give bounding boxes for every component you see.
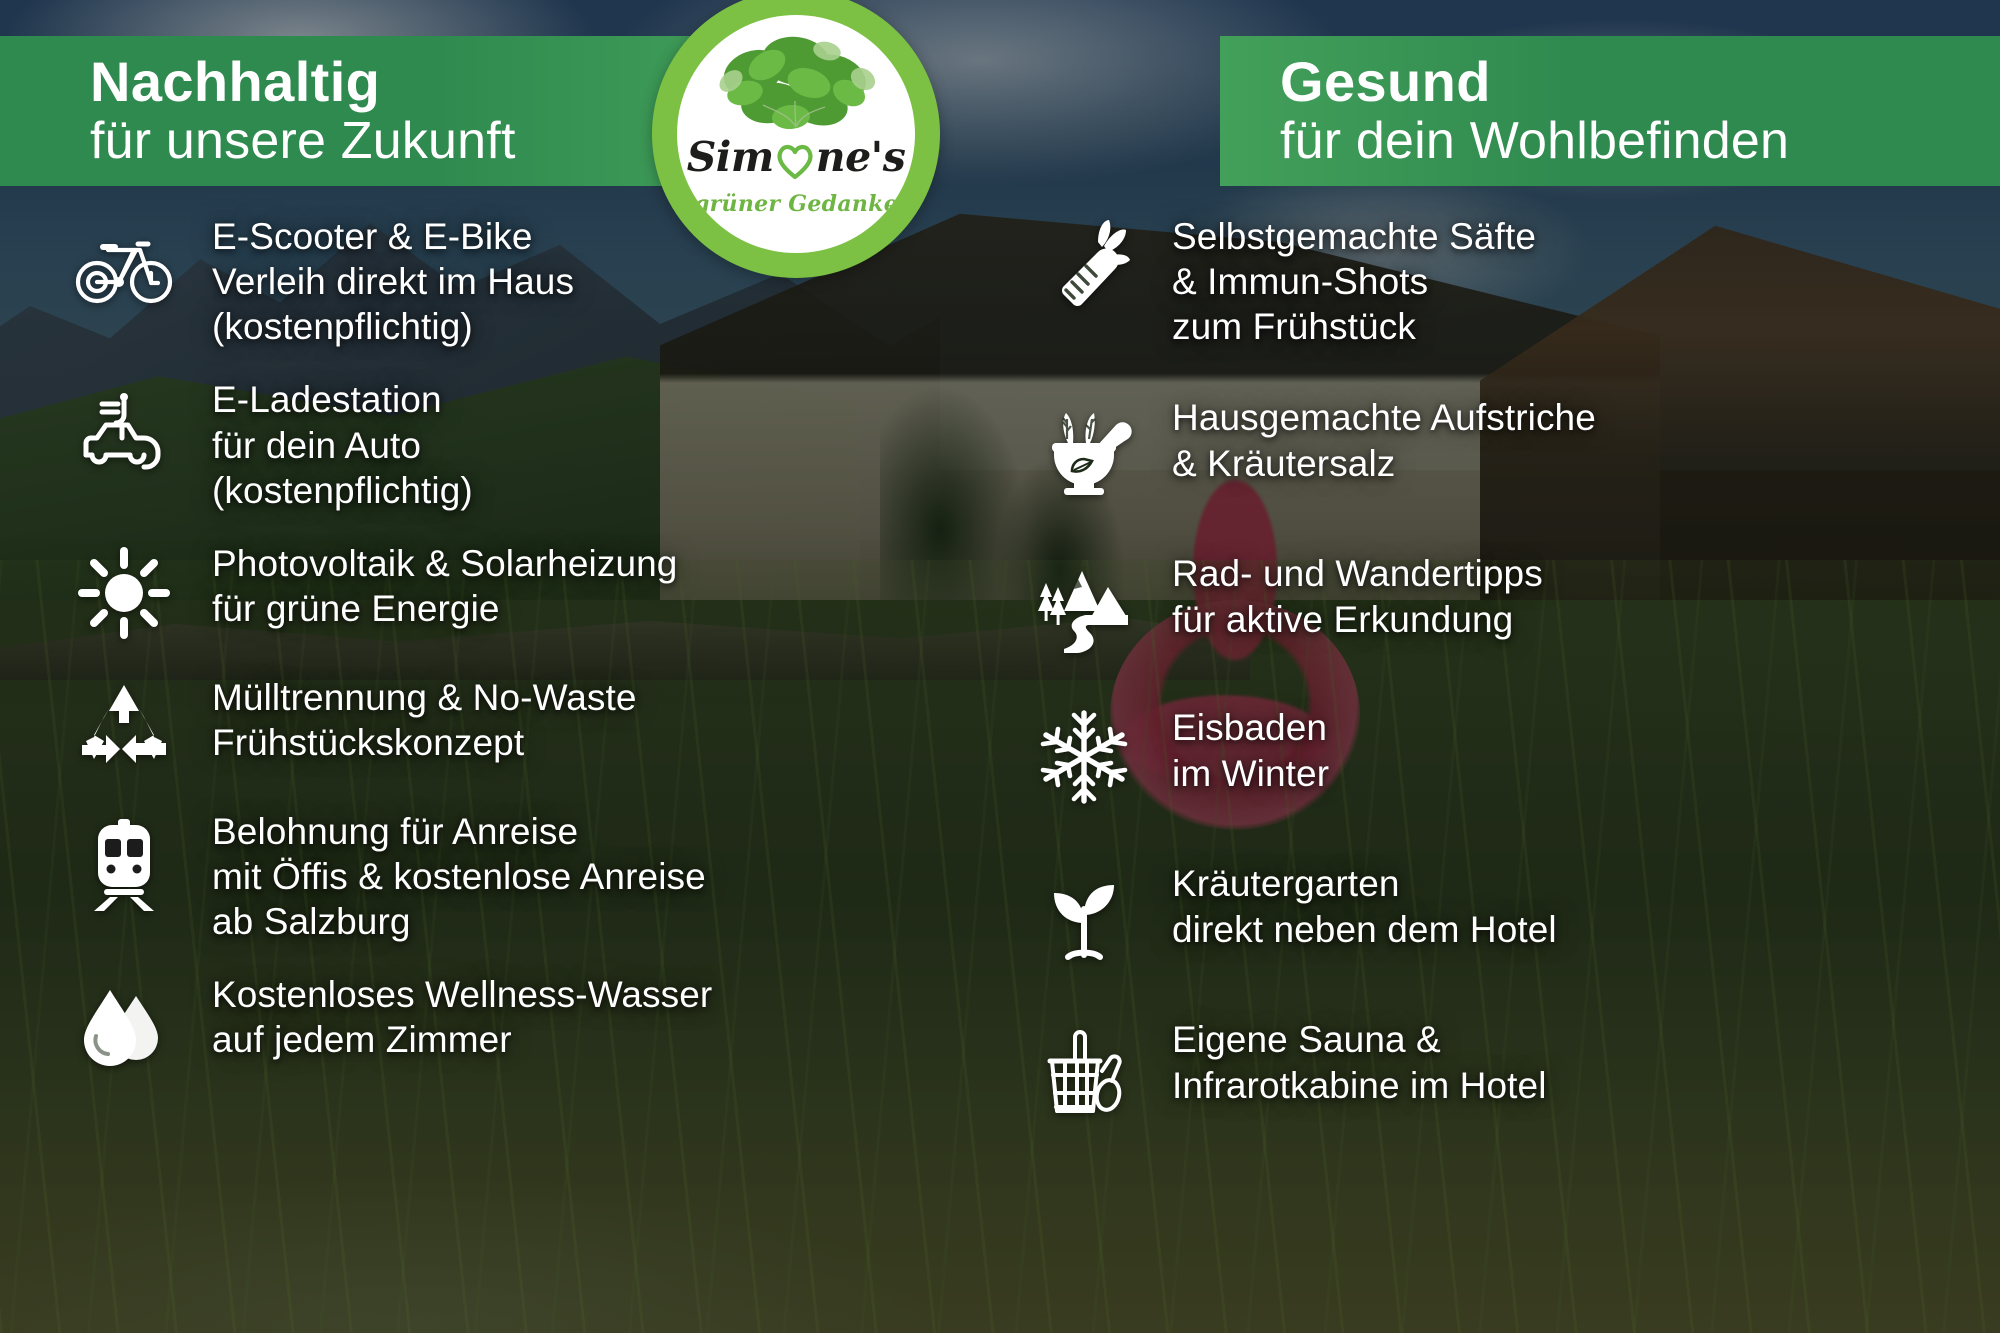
feature-line: Photovoltaik & Solarheizung [212,541,678,586]
feature-text: Mülltrennung & No-Waste Frühstückskonzep… [212,673,637,765]
feature-line: Kostenloses Wellness-Wasser [212,972,712,1017]
feature-item: E-Ladestation für dein Auto (kostenpflic… [70,375,950,512]
feature-line: & Immun-Shots [1172,259,1536,304]
feature-line: Infrarotkabine im Hotel [1172,1063,1547,1108]
feature-item: Belohnung für Anreise mit Öffis & kosten… [70,807,950,944]
feature-line: für grüne Energie [212,586,678,631]
mountain-trail-icon [1030,549,1138,657]
water-drops-icon [70,970,178,1078]
feature-line: Verleih direkt im Haus [212,259,574,304]
electric-car-charging-icon [70,375,178,483]
logo-wordmark: Sim ne's [677,137,915,178]
logo-wordmark-post: ne's [816,137,906,178]
feature-text: Kostenloses Wellness-Wasser auf jedem Zi… [212,970,712,1062]
feature-line: zum Frühstück [1172,304,1536,349]
feature-line: im Winter [1172,751,1329,796]
feature-item: Kostenloses Wellness-Wasser auf jedem Zi… [70,970,950,1078]
feature-item: Rad- und Wandertipps für aktive Erkundun… [1030,549,1910,657]
logo-tagline: grüner Gedanke [677,191,915,217]
feature-text: Belohnung für Anreise mit Öffis & kosten… [212,807,706,944]
feature-line: ab Salzburg [212,899,706,944]
feature-text: Eigene Sauna & Infrarotkabine im Hotel [1172,1015,1547,1107]
feature-item: Kräutergarten direkt neben dem Hotel [1030,859,1910,967]
sauna-bucket-icon [1030,1015,1138,1123]
feature-line: Mülltrennung & No-Waste [212,675,637,720]
feature-text: E-Ladestation für dein Auto (kostenpflic… [212,375,473,512]
feature-line: & Kräutersalz [1172,441,1596,486]
feature-text: Kräutergarten direkt neben dem Hotel [1172,859,1557,951]
infographic-poster: Nachhaltig für unsere Zukunft Gesund für… [0,0,2000,1333]
recycle-icon [70,673,178,781]
sun-icon [70,539,178,647]
feature-text: E-Scooter & E-Bike Verleih direkt im Hau… [212,212,574,349]
mortar-pestle-icon [1030,393,1138,501]
logo-wordmark-pre: Sim [687,137,774,178]
feature-line: Eisbaden [1172,705,1329,750]
feature-line: für dein Auto [212,423,473,468]
feature-columns: E-Scooter & E-Bike Verleih direkt im Hau… [0,206,2000,1333]
logo-disc: Sim ne's grüner Gedanke [677,15,915,253]
feature-item: Hausgemachte Aufstriche & Kräutersalz [1030,393,1910,501]
feature-column-sustainability: E-Scooter & E-Bike Verleih direkt im Hau… [70,206,950,1104]
carrot-icon [1030,212,1138,320]
brand-logo: Sim ne's grüner Gedanke [652,0,940,278]
feature-line: auf jedem Zimmer [212,1017,712,1062]
feature-line: für aktive Erkundung [1172,597,1543,642]
feature-text: Selbstgemachte Säfte & Immun-Shots zum F… [1172,212,1536,349]
header-right-subtitle: für dein Wohlbefinden [1280,112,1789,170]
feature-item: Mülltrennung & No-Waste Frühstückskonzep… [70,673,950,781]
herb-bush-icon [701,31,891,149]
feature-line: (kostenpflichtig) [212,468,473,513]
feature-line: mit Öffis & kostenlose Anreise [212,854,706,899]
feature-text: Rad- und Wandertipps für aktive Erkundun… [1172,549,1543,641]
feature-item: Selbstgemachte Säfte & Immun-Shots zum F… [1030,212,1910,349]
feature-line: Eigene Sauna & [1172,1017,1547,1062]
feature-item: Eisbaden im Winter [1030,703,1910,811]
snowflake-icon [1030,703,1138,811]
feature-line: Selbstgemachte Säfte [1172,214,1536,259]
train-icon [70,807,178,915]
feature-line: Hausgemachte Aufstriche [1172,395,1596,440]
heart-icon [775,141,815,181]
feature-text: Eisbaden im Winter [1172,703,1329,795]
header-band-right: Gesund für dein Wohlbefinden [1220,36,2000,186]
feature-line: Kräutergarten [1172,861,1557,906]
feature-line: E-Ladestation [212,377,473,422]
feature-line: (kostenpflichtig) [212,304,574,349]
feature-item: Photovoltaik & Solarheizung für grüne En… [70,539,950,647]
feature-line: Belohnung für Anreise [212,809,706,854]
feature-line: Rad- und Wandertipps [1172,551,1543,596]
feature-line: Frühstückskonzept [212,720,637,765]
feature-item: Eigene Sauna & Infrarotkabine im Hotel [1030,1015,1910,1123]
feature-column-wellbeing: Selbstgemachte Säfte & Immun-Shots zum F… [1030,206,1910,1149]
feature-line: E-Scooter & E-Bike [212,214,574,259]
feature-text: Hausgemachte Aufstriche & Kräutersalz [1172,393,1596,485]
feature-text: Photovoltaik & Solarheizung für grüne En… [212,539,678,631]
sprout-icon [1030,859,1138,967]
feature-line: direkt neben dem Hotel [1172,907,1557,952]
header-right-title: Gesund [1280,52,1491,111]
bicycle-icon [70,212,178,320]
